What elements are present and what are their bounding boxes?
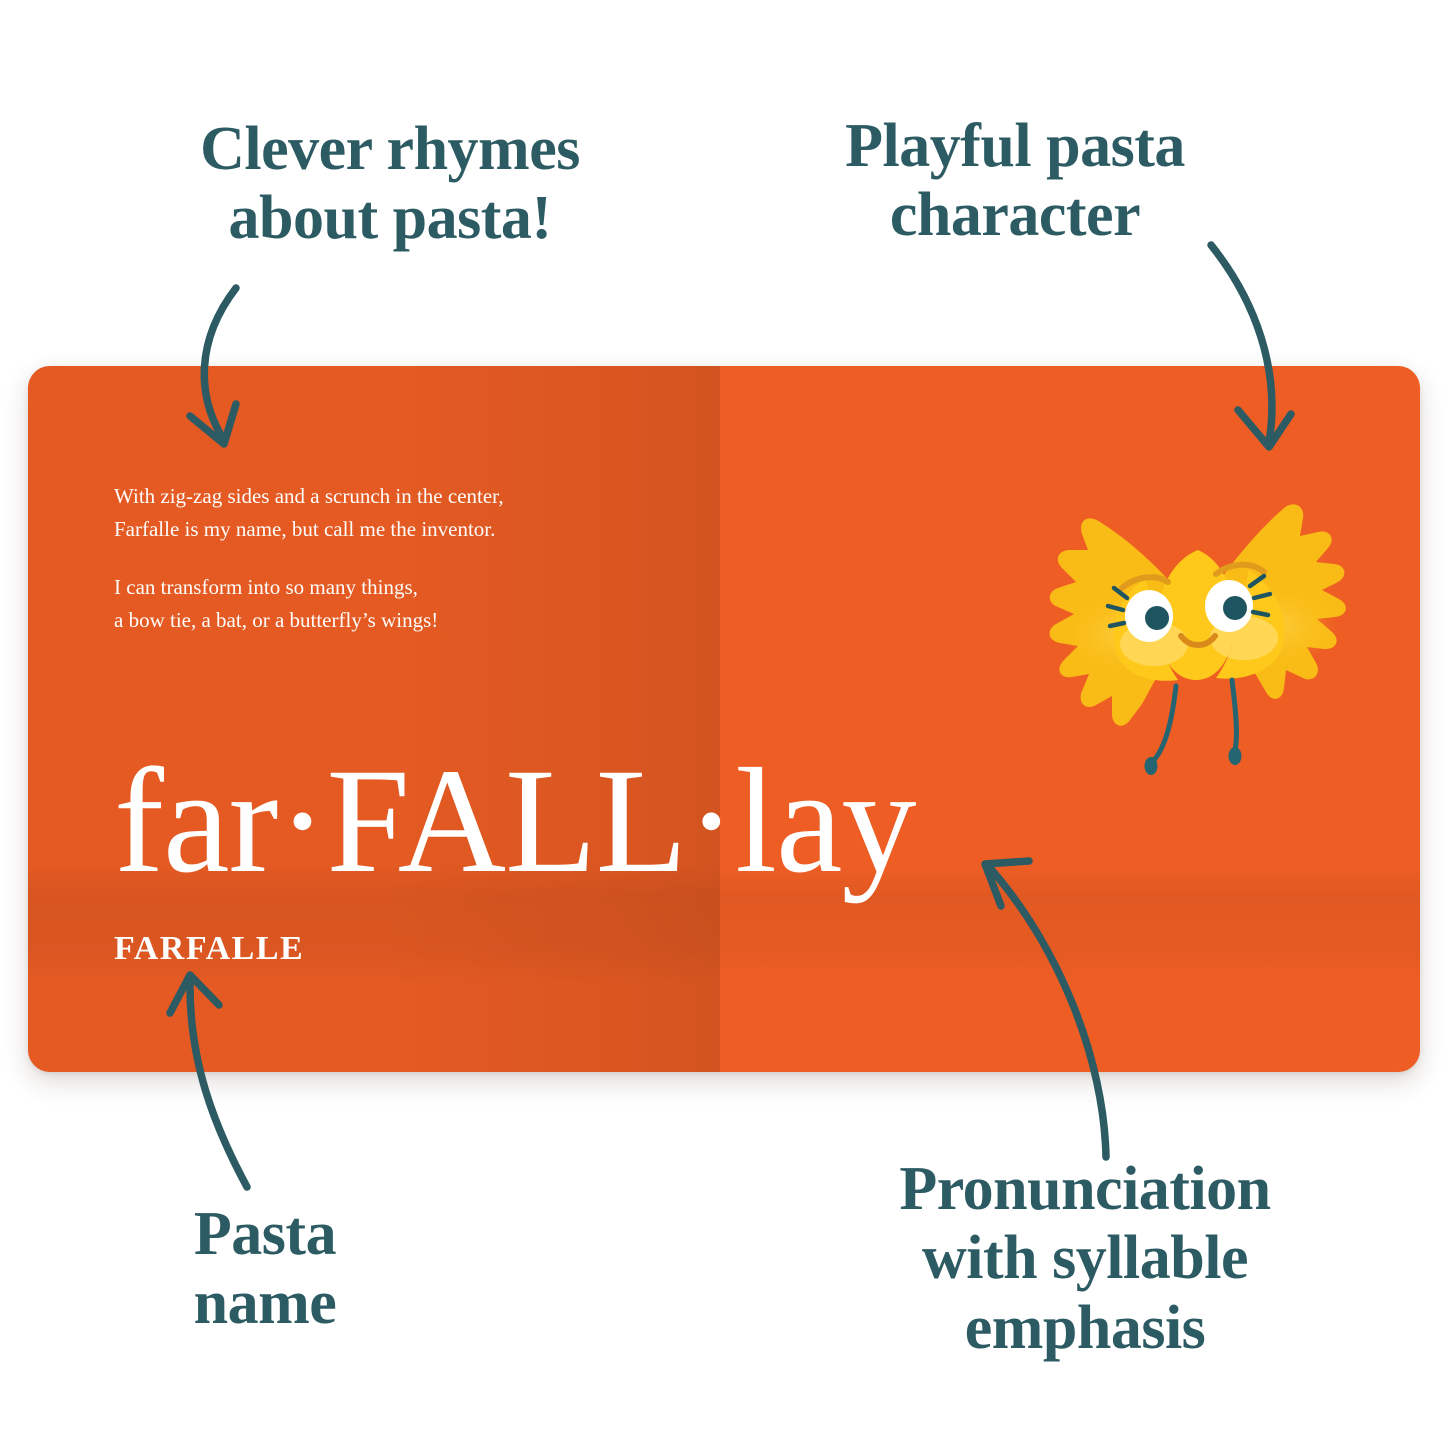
- pronunciation-text: far·FALL·lay: [114, 746, 916, 896]
- pronunciation-block: far·FALL·lay FARFALLE: [114, 746, 916, 968]
- poem-stanza-1: With zig-zag sides and a scrunch in the …: [114, 480, 634, 545]
- infographic-canvas: Clever rhymes about pasta! Playful pasta…: [0, 0, 1445, 1445]
- pasta-book-card: With zig-zag sides and a scrunch in the …: [28, 366, 1420, 1072]
- callout-playful-pasta-character: Playful pasta character: [770, 112, 1260, 251]
- callout-pronunciation: Pronunciation with syllable emphasis: [820, 1155, 1350, 1363]
- farfalle-character-icon: [1026, 458, 1366, 778]
- poem-block: With zig-zag sides and a scrunch in the …: [114, 480, 634, 636]
- callout-clever-rhymes: Clever rhymes about pasta!: [120, 115, 660, 254]
- poem-stanza-2: I can transform into so many things, a b…: [114, 571, 634, 636]
- callout-pasta-name: Pasta name: [90, 1200, 440, 1339]
- pasta-name-text: FARFALLE: [114, 930, 916, 968]
